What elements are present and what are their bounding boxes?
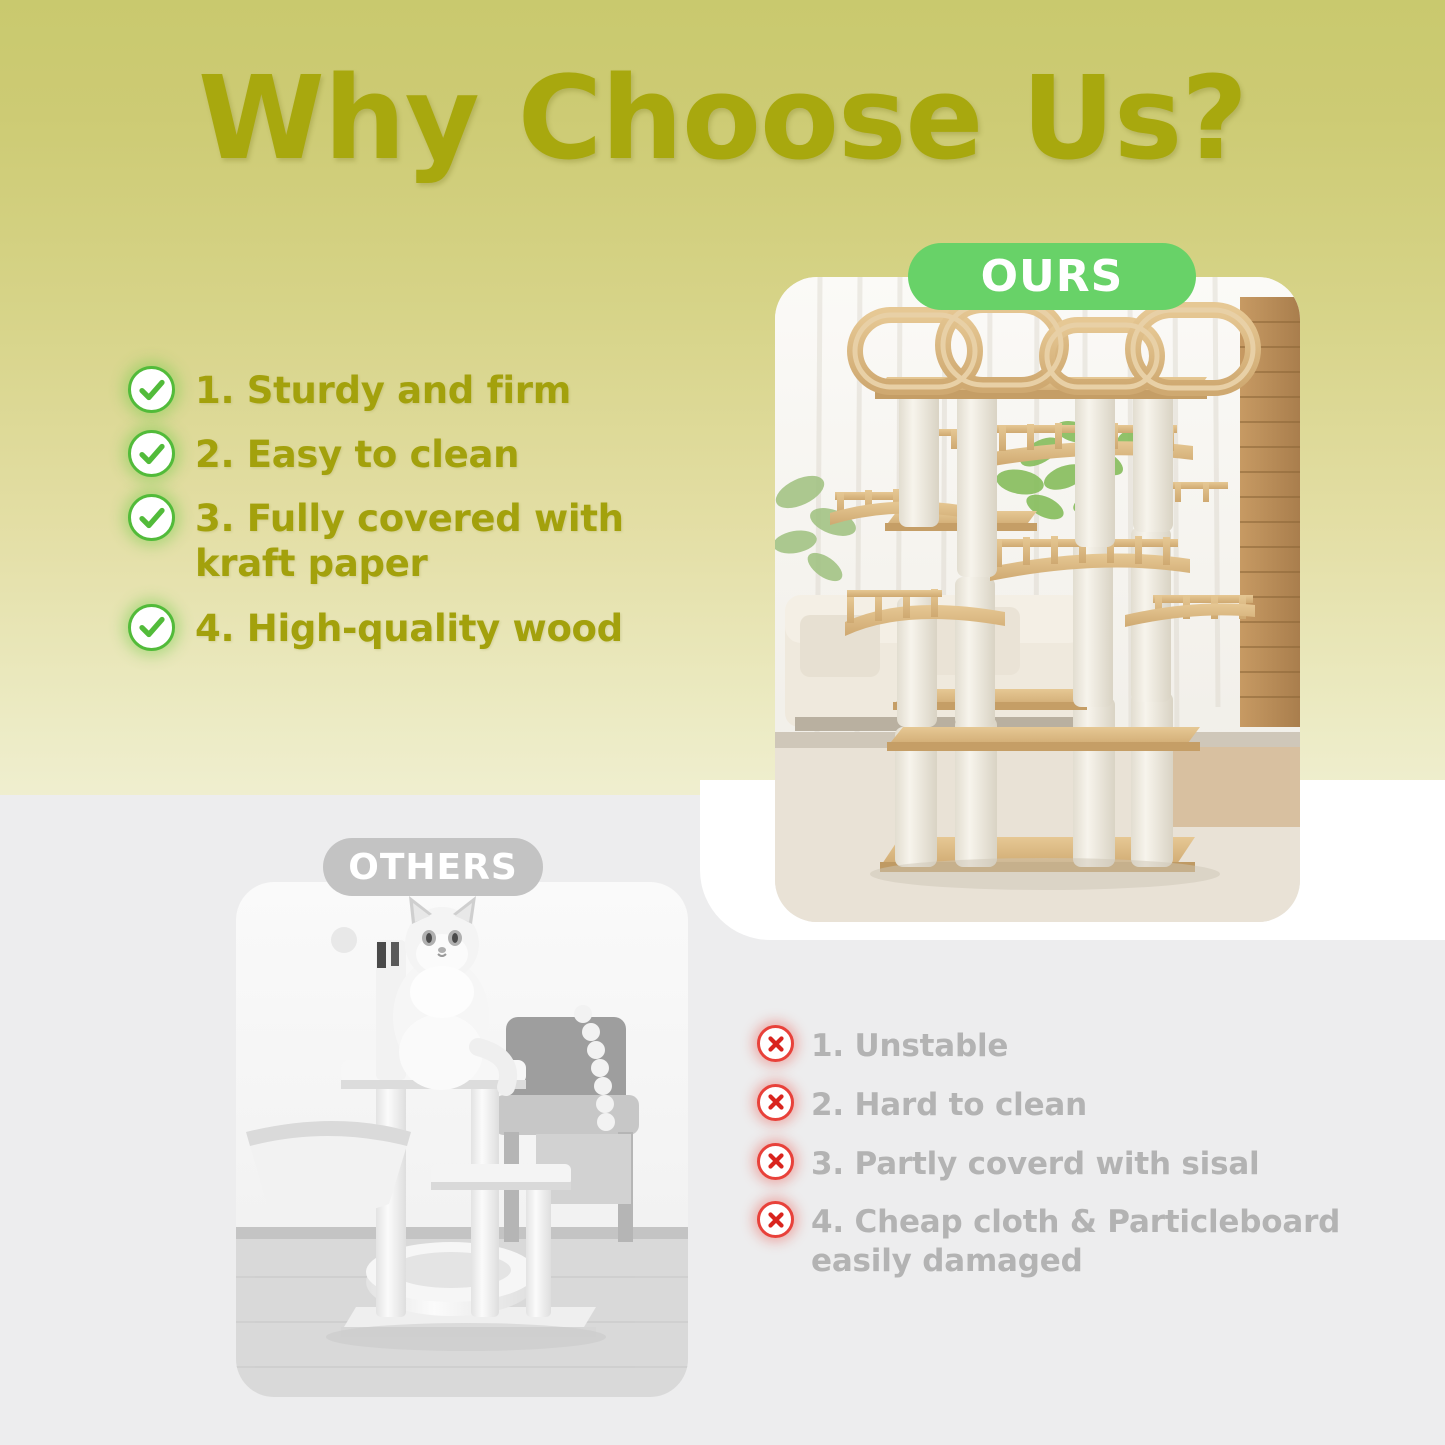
ours-item-label: 2. Easy to clean — [195, 430, 519, 477]
list-item: 2. Easy to clean — [128, 430, 728, 477]
others-item-label: 4. Cheap cloth & Particleboard easily da… — [811, 1201, 1340, 1281]
badge-others: OTHERS — [323, 838, 543, 896]
others-item-label: 2. Hard to clean — [811, 1084, 1087, 1125]
ours-feature-list: 1. Sturdy and firm 2. Easy to clean 3. F… — [128, 366, 728, 668]
ours-item-label: 4. High-quality wood — [195, 604, 623, 651]
list-item: 3. Fully covered with kraft paper — [128, 494, 728, 586]
list-item: 3. Partly coverd with sisal — [757, 1143, 1407, 1184]
others-item-label: 1. Unstable — [811, 1025, 1008, 1066]
x-circle-icon — [757, 1084, 794, 1121]
others-item-label: 3. Partly coverd with sisal — [811, 1143, 1259, 1184]
others-product-photo — [236, 882, 688, 1397]
check-circle-icon — [128, 604, 175, 651]
x-circle-icon — [757, 1201, 794, 1238]
badge-ours: OURS — [908, 243, 1196, 310]
list-item: 4. High-quality wood — [128, 604, 728, 651]
why-choose-us-infographic: Why Choose Us? 1. Sturdy and firm 2. Eas… — [0, 0, 1445, 1445]
others-drawback-list: 1. Unstable 2. Hard to clean 3. Partly c… — [757, 1025, 1407, 1299]
list-item: 1. Unstable — [757, 1025, 1407, 1066]
list-item: 2. Hard to clean — [757, 1084, 1407, 1125]
check-circle-icon — [128, 366, 175, 413]
ours-item-label: 1. Sturdy and firm — [195, 366, 571, 413]
list-item: 1. Sturdy and firm — [128, 366, 728, 413]
check-circle-icon — [128, 494, 175, 541]
x-circle-icon — [757, 1143, 794, 1180]
ours-product-photo — [775, 277, 1300, 922]
x-circle-icon — [757, 1025, 794, 1062]
list-item: 4. Cheap cloth & Particleboard easily da… — [757, 1201, 1407, 1281]
page-title: Why Choose Us? — [0, 52, 1445, 186]
ours-item-label: 3. Fully covered with kraft paper — [195, 494, 624, 586]
check-circle-icon — [128, 430, 175, 477]
